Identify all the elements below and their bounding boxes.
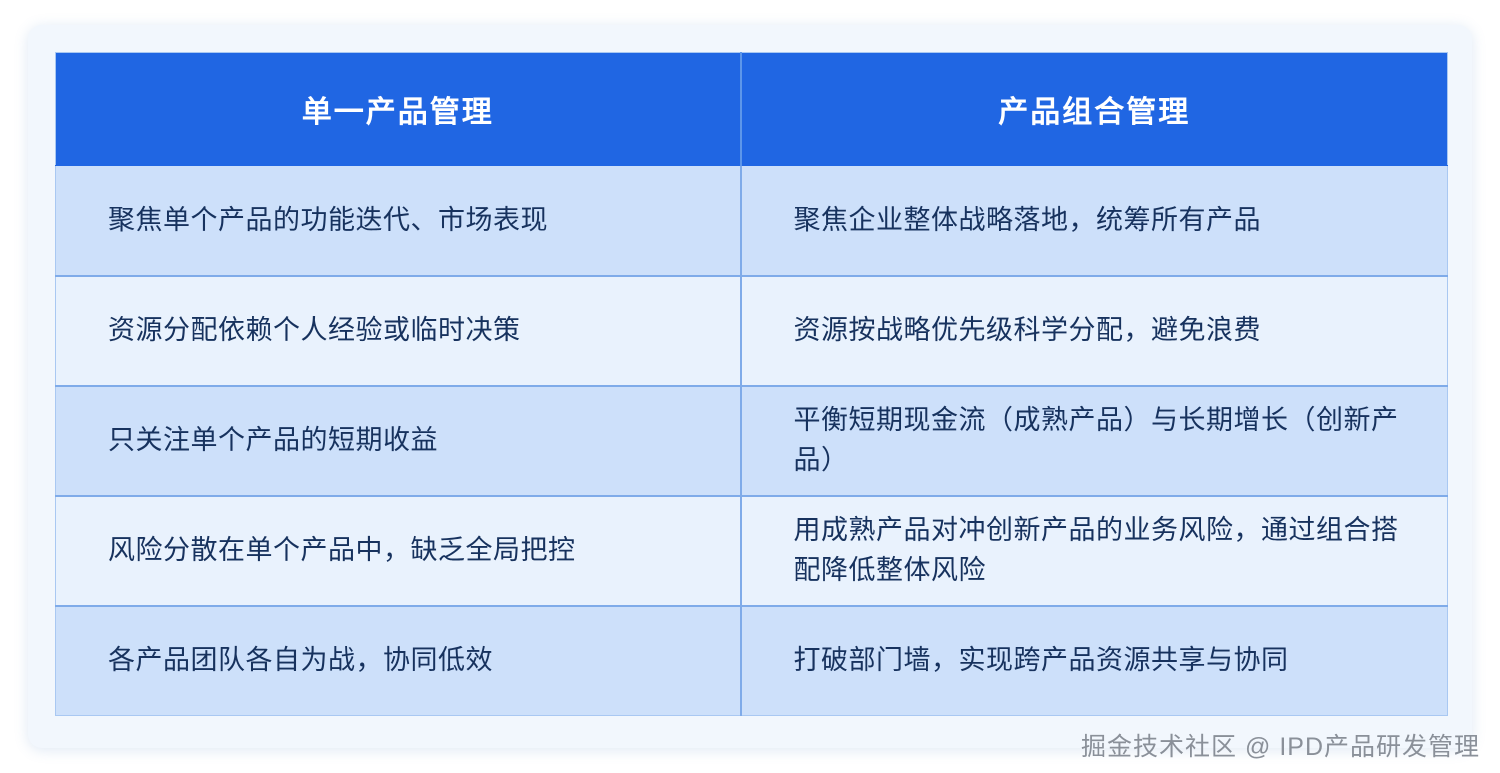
cell-text: 聚焦单个产品的功能迭代、市场表现 — [108, 201, 714, 240]
column-header-single-product: 单一产品管理 — [56, 53, 741, 166]
table-row: 聚焦单个产品的功能迭代、市场表现 聚焦企业整体战略落地，统筹所有产品 — [56, 166, 1448, 276]
table-cell-left: 资源分配依赖个人经验或临时决策 — [56, 276, 741, 386]
page-root: 单一产品管理 产品组合管理 聚焦单个产品的功能迭代、市场表现 聚焦企业整体战略落… — [0, 0, 1500, 773]
table-cell-left: 风险分散在单个产品中，缺乏全局把控 — [56, 496, 741, 606]
table-row: 各产品团队各自为战，协同低效 打破部门墙，实现跨产品资源共享与协同 — [56, 606, 1448, 716]
cell-text: 聚焦企业整体战略落地，统筹所有产品 — [794, 201, 1421, 240]
cell-text: 只关注单个产品的短期收益 — [108, 421, 714, 460]
comparison-table: 单一产品管理 产品组合管理 聚焦单个产品的功能迭代、市场表现 聚焦企业整体战略落… — [55, 52, 1448, 716]
table-cell-left: 各产品团队各自为战，协同低效 — [56, 606, 741, 716]
table-cell-right: 用成熟产品对冲创新产品的业务风险，通过组合搭配降低整体风险 — [741, 496, 1448, 606]
cell-text: 打破部门墙，实现跨产品资源共享与协同 — [794, 641, 1421, 680]
table-cell-right: 平衡短期现金流（成熟产品）与长期增长（创新产品） — [741, 386, 1448, 496]
cell-text: 用成熟产品对冲创新产品的业务风险，通过组合搭配降低整体风险 — [794, 511, 1421, 589]
column-header-product-portfolio: 产品组合管理 — [741, 53, 1448, 166]
cell-text: 风险分散在单个产品中，缺乏全局把控 — [108, 531, 714, 570]
table-row: 只关注单个产品的短期收益 平衡短期现金流（成熟产品）与长期增长（创新产品） — [56, 386, 1448, 496]
table-body: 聚焦单个产品的功能迭代、市场表现 聚焦企业整体战略落地，统筹所有产品 资源分配依… — [56, 166, 1448, 716]
table-cell-right: 资源按战略优先级科学分配，避免浪费 — [741, 276, 1448, 386]
comparison-card: 单一产品管理 产品组合管理 聚焦单个产品的功能迭代、市场表现 聚焦企业整体战略落… — [28, 25, 1472, 748]
table-row: 资源分配依赖个人经验或临时决策 资源按战略优先级科学分配，避免浪费 — [56, 276, 1448, 386]
table-header: 单一产品管理 产品组合管理 — [56, 53, 1448, 166]
cell-text: 资源按战略优先级科学分配，避免浪费 — [794, 311, 1421, 350]
table-cell-left: 聚焦单个产品的功能迭代、市场表现 — [56, 166, 741, 276]
table-cell-left: 只关注单个产品的短期收益 — [56, 386, 741, 496]
cell-text: 平衡短期现金流（成熟产品）与长期增长（创新产品） — [794, 401, 1421, 479]
table-cell-right: 聚焦企业整体战略落地，统筹所有产品 — [741, 166, 1448, 276]
cell-text: 各产品团队各自为战，协同低效 — [108, 641, 714, 680]
table-row: 风险分散在单个产品中，缺乏全局把控 用成熟产品对冲创新产品的业务风险，通过组合搭… — [56, 496, 1448, 606]
cell-text: 资源分配依赖个人经验或临时决策 — [108, 311, 714, 350]
table-cell-right: 打破部门墙，实现跨产品资源共享与协同 — [741, 606, 1448, 716]
table-header-row: 单一产品管理 产品组合管理 — [56, 53, 1448, 166]
watermark-text: 掘金技术社区 @ IPD产品研发管理 — [1081, 727, 1480, 763]
